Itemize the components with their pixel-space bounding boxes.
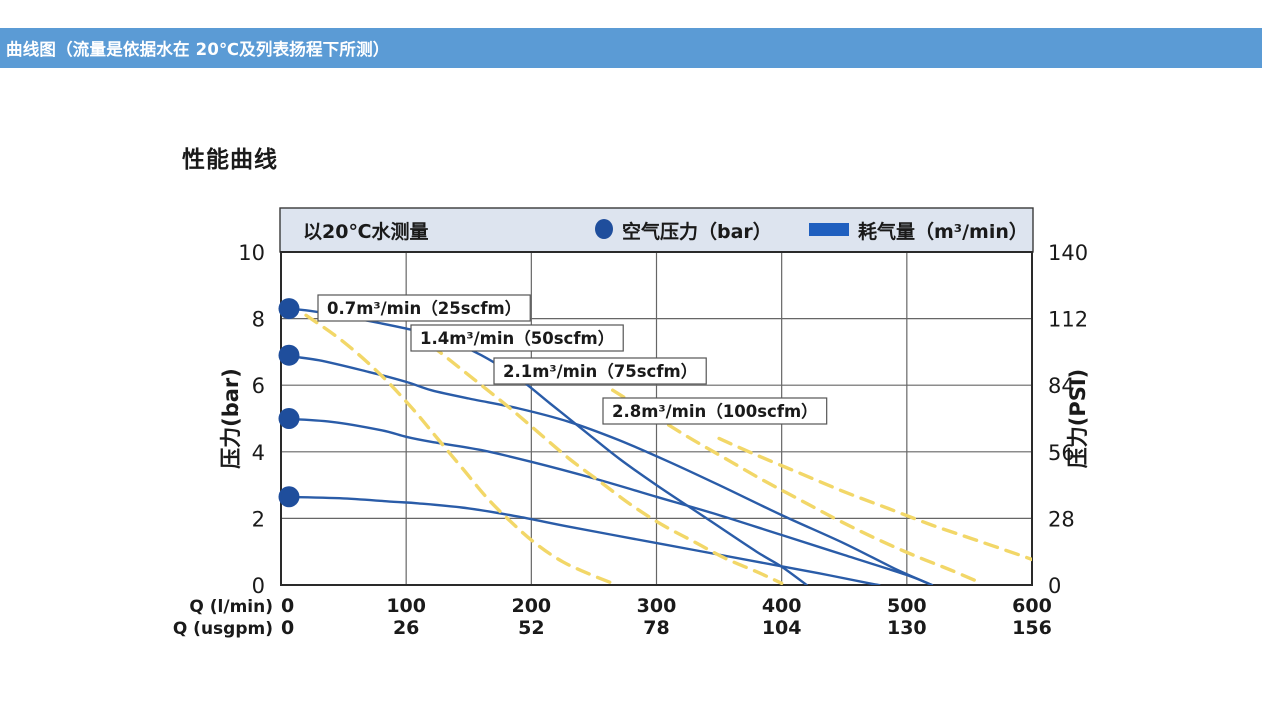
x-secondary-tick-label: 104 (762, 617, 802, 639)
series-line-dashed (306, 315, 613, 583)
series-start-marker (279, 298, 300, 319)
series-line-solid (281, 419, 932, 586)
x-secondary-tick-label: 52 (518, 617, 544, 639)
callout-label: 2.1m³/min（75scfm） (503, 361, 697, 381)
y-right-tick-label: 140 (1048, 241, 1088, 265)
y-right-tick-label: 112 (1048, 308, 1088, 332)
y-left-tick-label: 8 (252, 308, 265, 332)
y-right-axis-label: 压力(PSI) (1066, 369, 1090, 469)
series-line-dashed (719, 438, 1095, 581)
y-left-tick-label: 10 (238, 241, 265, 265)
callout-box: 2.8m³/min（100scfm） (603, 398, 827, 424)
legend-label-condition: 以20℃水测量 (303, 221, 428, 243)
series-start-marker (279, 408, 300, 429)
x-secondary-tick-label: 26 (393, 617, 419, 639)
callout-label: 1.4m³/min（50scfm） (420, 328, 614, 348)
callout-label: 0.7m³/min（25scfm） (327, 298, 521, 318)
plot-frame (281, 252, 1032, 585)
y-left-axis-label: 压力(bar) (219, 368, 243, 469)
series-line-solid (281, 355, 932, 585)
y-right-tick-label: 84 (1048, 374, 1075, 398)
callout-box: 2.1m³/min（75scfm） (494, 358, 706, 384)
callout-box: 0.7m³/min（25scfm） (318, 295, 530, 321)
callout-frame (411, 325, 623, 351)
x-secondary-axis-label: Q (usgpm) (173, 619, 273, 639)
y-left-tick-label: 6 (252, 374, 265, 398)
performance-curve-chart: 以20℃水测量空气压力（bar）耗气量（m³/min）0.7m³/min（25s… (0, 0, 1262, 716)
y-right-tick-label: 0 (1048, 574, 1061, 598)
page-header-title: 曲线图（流量是依据水在 20℃及列表扬程下所测） (0, 36, 390, 60)
x-secondary-tick-label: 130 (887, 617, 927, 639)
x-secondary-tick-label: 78 (643, 617, 669, 639)
x-secondary-tick-label: 156 (1012, 617, 1052, 639)
chart-canvas: 以20℃水测量空气压力（bar）耗气量（m³/min）0.7m³/min（25s… (0, 0, 1262, 716)
series-line-dashed (431, 345, 782, 583)
series-start-marker (279, 486, 300, 507)
legend-label-air-consumption: 耗气量（m³/min） (858, 220, 1028, 243)
callout-frame (318, 295, 530, 321)
callout-box: 1.4m³/min（50scfm） (411, 325, 623, 351)
legend-marker-bar-icon (809, 223, 849, 236)
x-primary-tick-label: 400 (762, 595, 802, 617)
series-line-dashed (613, 390, 982, 583)
x-primary-tick-label: 600 (1012, 595, 1052, 617)
series-line-solid (281, 309, 807, 585)
x-primary-tick-label: 300 (637, 595, 677, 617)
legend-label-air-pressure: 空气压力（bar） (622, 220, 772, 243)
x-primary-tick-label: 200 (511, 595, 551, 617)
x-primary-tick-label: 100 (386, 595, 426, 617)
x-primary-tick-label: 0 (281, 595, 294, 617)
y-right-tick-label: 28 (1048, 507, 1075, 531)
callout-frame (603, 398, 827, 424)
x-primary-tick-label: 500 (887, 595, 927, 617)
y-left-tick-label: 4 (252, 441, 265, 465)
x-secondary-tick-label: 0 (281, 617, 294, 639)
legend-marker-circle-icon (595, 219, 613, 239)
y-left-tick-label: 2 (252, 507, 265, 531)
callout-frame (494, 358, 706, 384)
series-start-marker (279, 345, 300, 366)
y-left-tick-label: 0 (252, 574, 265, 598)
y-right-tick-label: 56 (1048, 441, 1075, 465)
chart-title: 性能曲线 (182, 140, 278, 174)
series-line-solid (281, 497, 879, 585)
x-primary-axis-label: Q (l/min) (189, 597, 273, 617)
callout-label: 2.8m³/min（100scfm） (612, 401, 818, 421)
legend-band (280, 208, 1033, 252)
page-header-bar: 曲线图（流量是依据水在 20℃及列表扬程下所测） (0, 28, 1262, 68)
